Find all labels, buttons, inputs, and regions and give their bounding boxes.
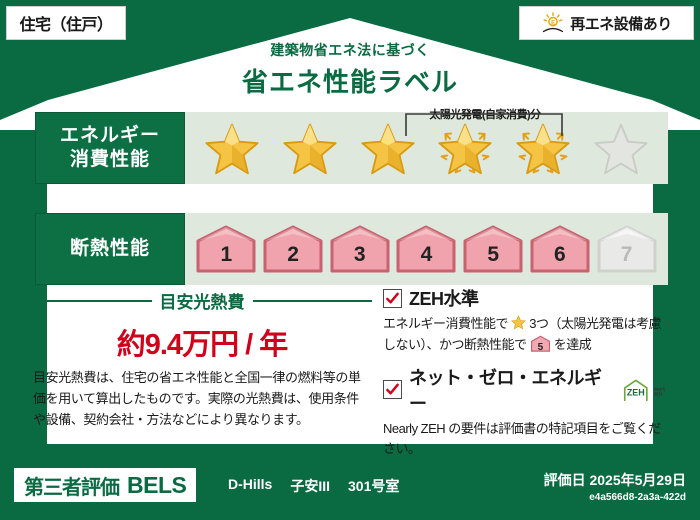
label-title-block: 建築物省エネ法に基づく 省エネ性能ラベル: [0, 40, 700, 99]
insulation-house-2-filled: 2: [262, 224, 324, 274]
energy-performance-row: エネルギー 消費性能: [35, 112, 668, 184]
evaluation-date: 評価日 2025年5月29日: [544, 470, 686, 490]
title-subtitle: 建築物省エネ法に基づく: [0, 40, 700, 60]
bels-tag: 第三者評価 BELS: [14, 468, 196, 502]
insulation-performance-label: 断熱性能: [35, 213, 185, 285]
property-name: D-Hills: [228, 476, 272, 496]
room-number: 301号室: [348, 476, 399, 496]
label-footer: 第三者評価 BELS D-Hills 子安III 301号室 評価日 2025年…: [0, 458, 700, 520]
zeh-netzero-title: ネット・ゼロ・エネルギー: [409, 364, 613, 416]
solar-bracket-label: 太陽光発電(自家消費)分: [380, 106, 590, 122]
inline-house-number: 5: [530, 340, 551, 356]
zeh-body-post: を達成: [554, 337, 592, 352]
svg-text:ZEH: ZEH: [627, 387, 645, 397]
zeh-standard-body: エネルギー消費性能で 3つ（太陽光発電は考慮しない）、かつ断熱性能で 5 を達成: [383, 314, 665, 356]
house-number: 7: [596, 243, 658, 267]
zeh-item-netzero: ネット・ゼロ・エネルギー ZEH Nearly ZEH Nearly ZEH の…: [383, 364, 665, 461]
utility-cost-heading: 目安光熱費: [32, 288, 372, 313]
utility-cost-block: 目安光熱費 約9.4万円 / 年: [32, 288, 372, 363]
insulation-house-7-empty: 7: [596, 224, 658, 274]
check-icon: [385, 382, 400, 397]
energy-performance-label: エネルギー 消費性能: [35, 112, 185, 184]
star-5-filled: [513, 119, 573, 177]
svg-text:ZEH: ZEH: [654, 391, 662, 396]
bels-jp-text: 第三者評価: [24, 471, 119, 500]
energy-performance-label: 住宅（住戸） E 再エネ設備あり 建築物省エネ法に基づく 省エネ性能ラベル エネ…: [0, 0, 700, 520]
checkbox-checked[interactable]: [383, 380, 402, 399]
zeh-standard-title: ZEH水準: [409, 285, 479, 311]
house-type-tag: 住宅（住戸）: [6, 6, 126, 40]
cost-rule-right: [253, 300, 373, 302]
energy-label-line1: エネルギー: [60, 124, 160, 148]
insulation-house-3-filled: 3: [329, 224, 391, 274]
star-6-empty: [591, 119, 651, 177]
building-name: 子安III: [290, 476, 330, 496]
house-number: 3: [329, 243, 391, 267]
zeh-item-standard: ZEH水準 エネルギー消費性能で 3つ（太陽光発電は考慮しない）、かつ断熱性能で…: [383, 285, 665, 356]
zeh-house-logo: ZEH Nearly ZEH: [622, 377, 665, 403]
zeh-body-pre: エネルギー消費性能で: [383, 316, 508, 331]
house-number: 4: [395, 243, 457, 267]
insulation-house-1-filled: 1: [195, 224, 257, 274]
renewable-energy-text: 再エネ設備あり: [570, 13, 672, 34]
star-1-filled: [202, 119, 262, 177]
insulation-house-track: 1234567: [185, 213, 668, 285]
inline-star-icon: [511, 315, 526, 330]
utility-cost-value: 約9.4万円 / 年: [32, 321, 372, 363]
house-number: 2: [262, 243, 324, 267]
renewable-energy-tag: E 再エネ設備あり: [519, 6, 694, 40]
zeh-netzero-header: ネット・ゼロ・エネルギー ZEH Nearly ZEH: [383, 364, 665, 416]
star-3-filled: [358, 119, 418, 177]
inline-house-badge: 5: [530, 335, 551, 352]
house-number: 6: [529, 243, 591, 267]
insulation-house-6-filled: 6: [529, 224, 591, 274]
checkbox-checked[interactable]: [383, 289, 402, 308]
insulation-house-4-filled: 4: [395, 224, 457, 274]
house-number: 5: [462, 243, 524, 267]
insulation-label-text: 断熱性能: [70, 237, 150, 261]
house-type-text: 住宅（住戸）: [19, 11, 112, 35]
energy-star-track: [185, 112, 668, 184]
evaluation-id: e4a566d8-2a3a-422d: [544, 492, 686, 503]
evaluation-block: 評価日 2025年5月29日 e4a566d8-2a3a-422d: [544, 470, 686, 503]
zeh-column: ZEH水準 エネルギー消費性能で 3つ（太陽光発電は考慮しない）、かつ断熱性能で…: [383, 285, 665, 468]
zeh-netzero-body: Nearly ZEH の要件は評価書の特記項目をご覧ください。: [383, 419, 665, 461]
check-icon: [385, 291, 400, 306]
house-number: 1: [195, 243, 257, 267]
svg-text:E: E: [551, 20, 555, 27]
utility-cost-note: 目安光熱費は、住宅の省エネ性能と全国一律の燃料等の単価を用いて算出したものです。…: [33, 367, 366, 430]
insulation-house-5-filled: 5: [462, 224, 524, 274]
title-main: 省エネ性能ラベル: [0, 62, 700, 99]
star-2-filled: [280, 119, 340, 177]
star-4-filled: [435, 119, 495, 177]
insulation-performance-row: 断熱性能 1234567: [35, 213, 668, 285]
sun-icon: E: [541, 12, 565, 34]
energy-label-line2: 消費性能: [60, 148, 160, 172]
cost-rule-left: [32, 300, 152, 302]
bels-en-text: BELS: [127, 472, 186, 499]
property-info: D-Hills 子安III 301号室: [228, 476, 399, 496]
cost-heading-text: 目安光熱費: [160, 288, 245, 313]
zeh-standard-header: ZEH水準: [383, 285, 665, 311]
